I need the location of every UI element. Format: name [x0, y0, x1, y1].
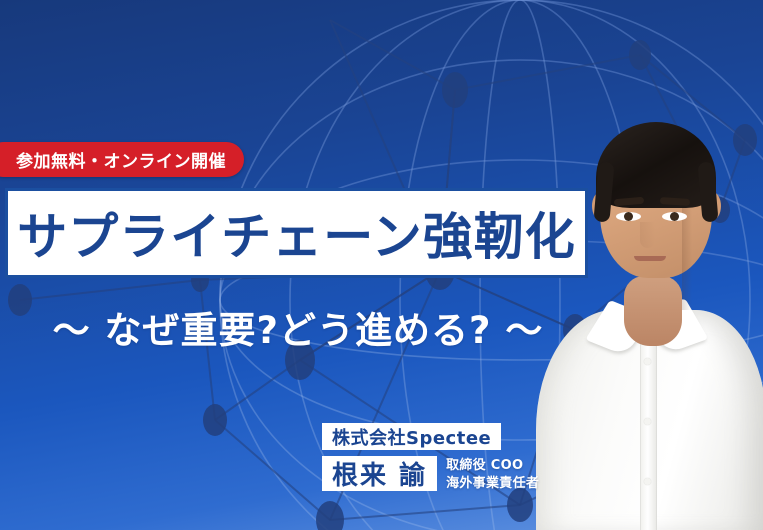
banner-title: サプライチェーン強靭化	[17, 197, 576, 269]
free-online-badge: 参加無料・オンライン開催	[0, 142, 244, 177]
photo-nose	[640, 222, 655, 248]
webinar-banner: 参加無料・オンライン開催 サプライチェーン強靭化 〜 なぜ重要?どう進める? 〜…	[0, 0, 763, 530]
photo-pupil-right	[670, 212, 679, 221]
photo-shirt-placket	[640, 326, 657, 530]
speaker-name-row: 根来 諭 取締役 COO 海外事業責任者	[322, 456, 539, 492]
photo-shirt-button	[644, 358, 651, 365]
speaker-role: 取締役 COO 海外事業責任者	[446, 457, 539, 492]
speaker-photo	[528, 100, 763, 530]
photo-eye-right	[662, 212, 687, 221]
banner-subtitle: 〜 なぜ重要?どう進める? 〜	[53, 309, 544, 352]
speaker-info: 株式会社Spectee 根来 諭 取締役 COO 海外事業責任者	[322, 423, 539, 492]
speaker-role-line-2: 海外事業責任者	[446, 475, 539, 493]
badge-label: 参加無料・オンライン開催	[16, 147, 226, 172]
speaker-name: 根来 諭	[322, 456, 437, 491]
photo-hair	[596, 122, 716, 208]
speaker-company: 株式会社Spectee	[322, 423, 501, 450]
photo-pupil-left	[624, 212, 633, 221]
photo-shirt-button	[644, 418, 651, 425]
speaker-role-line-1: 取締役 COO	[446, 457, 539, 475]
banner-subtitle-wrap: 〜 なぜ重要?どう進める? 〜	[38, 300, 558, 354]
photo-eye-left	[616, 212, 641, 221]
photo-mouth	[634, 256, 666, 261]
photo-shirt-button	[644, 478, 651, 485]
title-banner: サプライチェーン強靭化	[5, 188, 588, 278]
photo-neck	[624, 276, 682, 346]
